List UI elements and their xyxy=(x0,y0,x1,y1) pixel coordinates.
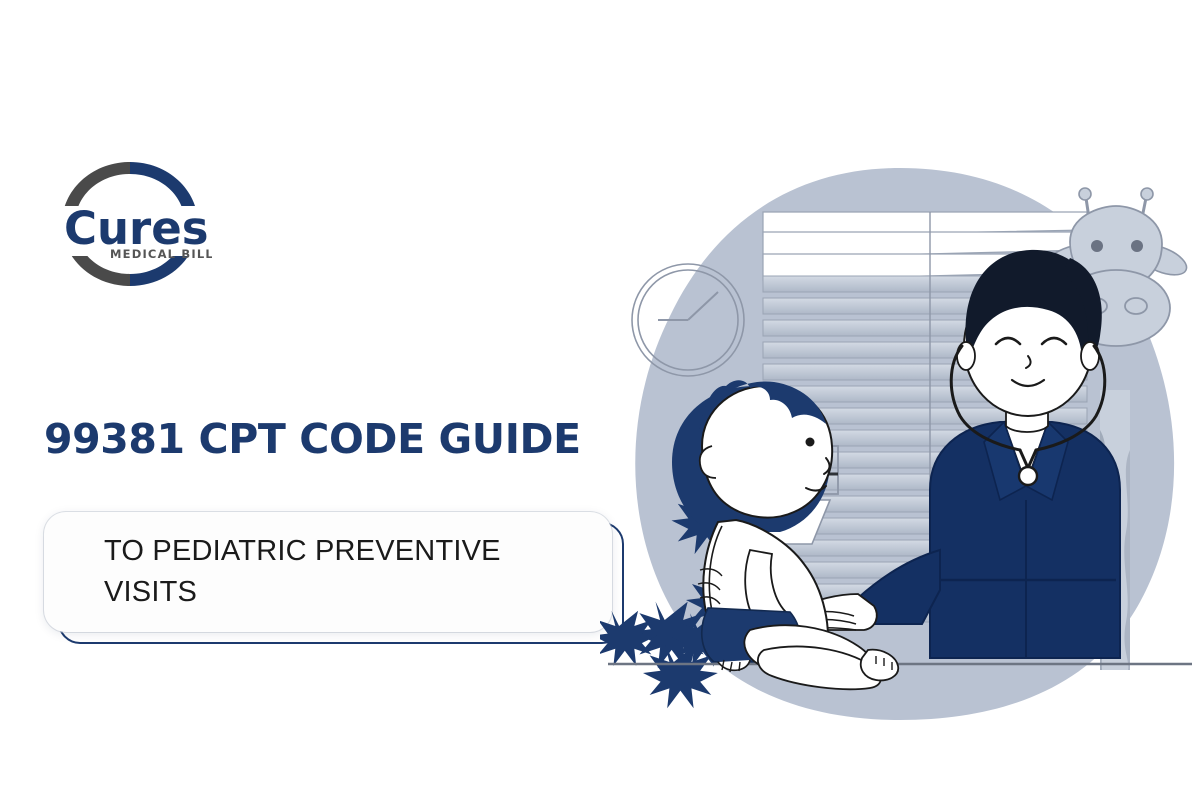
brand-logo[interactable]: CuresMB MEDICAL BILLING xyxy=(52,148,212,298)
poster-canvas: CuresMB MEDICAL BILLING 99381 CPT CODE G… xyxy=(0,0,1200,800)
logo-tagline: MEDICAL BILLING xyxy=(110,247,212,261)
page-title: 99381 CPT CODE GUIDE xyxy=(44,415,581,463)
subtitle-card: TO PEDIATRIC PREVENTIVE VISITS xyxy=(44,512,624,644)
hero-illustration xyxy=(600,150,1200,770)
subtitle-text: TO PEDIATRIC PREVENTIVE VISITS xyxy=(44,531,612,613)
subtitle-card-face: TO PEDIATRIC PREVENTIVE VISITS xyxy=(44,512,612,632)
